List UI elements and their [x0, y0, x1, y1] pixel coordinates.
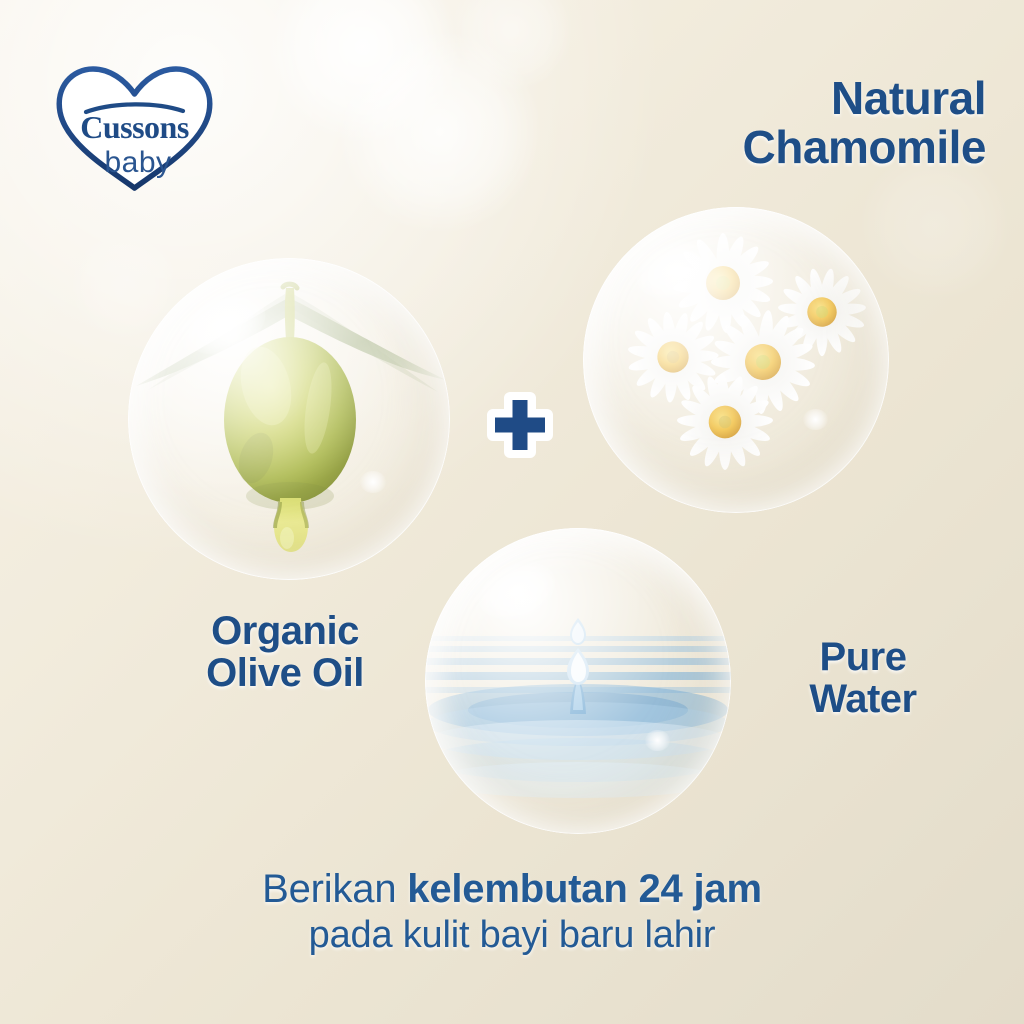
label-line-1: Organic [185, 610, 385, 652]
label-line-2: Water [768, 678, 958, 720]
bokeh-highlight [340, 32, 540, 232]
ingredient-label-chamomile: Natural Chamomile [743, 74, 986, 172]
label-line-1: Pure [768, 636, 958, 678]
tagline-emphasis: kelembutan 24 jam [407, 867, 762, 911]
tagline-line-2: pada kulit bayi baru lahir [0, 913, 1024, 958]
label-line-2: Olive Oil [185, 652, 385, 694]
water-bubble [425, 528, 731, 834]
olive-bubble [128, 258, 450, 580]
promo-creative-canvas: Cussons baby [0, 0, 1024, 1024]
chamomile-bubble [583, 207, 889, 513]
ingredient-label-water: Pure Water [768, 636, 958, 721]
cussons-baby-logo: Cussons baby [52, 62, 217, 194]
label-line-2: Chamomile [743, 123, 986, 172]
label-line-1: Natural [743, 74, 986, 123]
tagline: Berikan kelembutan 24 jam pada kulit bay… [0, 866, 1024, 958]
logo-wordmark-cussons: Cussons [80, 109, 189, 145]
tagline-prefix: Berikan [262, 867, 407, 911]
bokeh-highlight [452, 0, 572, 90]
logo-wordmark-baby: baby [104, 146, 171, 179]
ingredient-label-olive: Organic Olive Oil [185, 610, 385, 695]
tagline-line-1: Berikan kelembutan 24 jam [0, 866, 1024, 913]
plus-sign-icon [483, 388, 557, 462]
bokeh-highlight [268, 0, 458, 142]
